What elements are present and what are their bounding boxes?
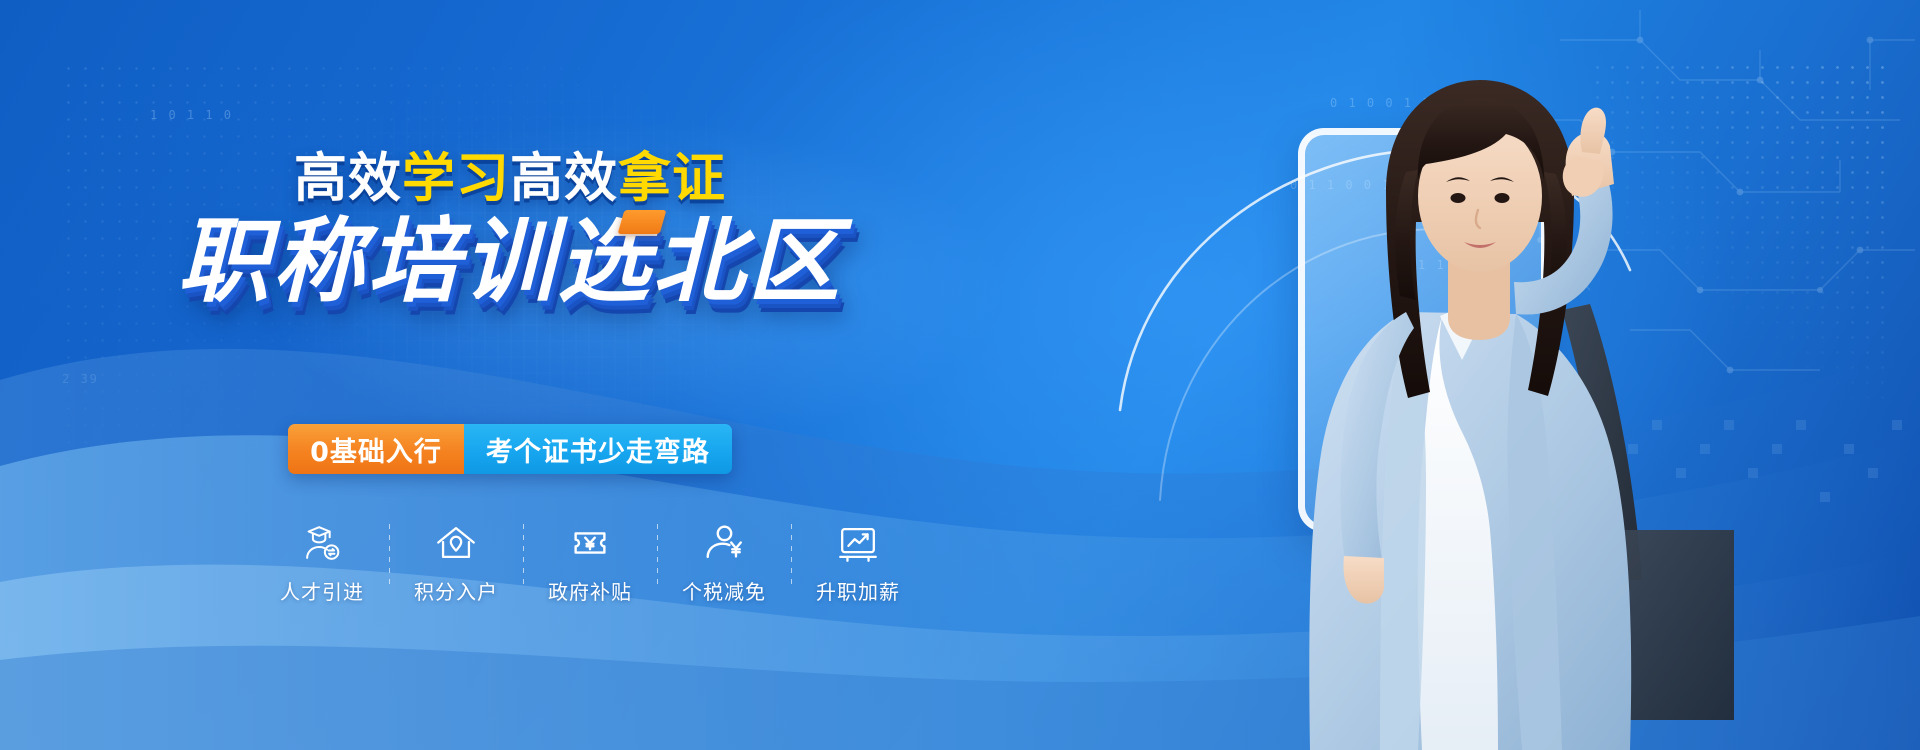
model-photo [1210, 60, 1770, 750]
feature-label: 政府补贴 [548, 576, 632, 605]
promo-banner: 2 39 1 0 1 1 0 0 1 0 0 1 1 1 1 0 1 0 0 1… [0, 0, 1920, 750]
badge-primary: 0基础入行 [288, 424, 464, 474]
feature-item-talent[interactable]: 人才引进 [256, 520, 389, 605]
home-pin-icon [433, 520, 479, 566]
kicker-highlight2: 拿证 [618, 148, 726, 209]
badge-bar-wrap: 0基础入行 考个证书少走弯路 [0, 424, 1020, 474]
growth-chart-icon [835, 520, 881, 566]
feature-list: 人才引进 积分入户 [0, 520, 1180, 605]
feature-item-tax[interactable]: 个税减免 [658, 520, 791, 605]
graduate-person-icon [299, 520, 345, 566]
kicker-highlight1: 学习 [402, 148, 510, 209]
model-composition [1060, 0, 1920, 750]
kicker-part1: 高效 [294, 148, 402, 209]
main-title-wrap: 职称培训选北区 [0, 214, 1020, 311]
orange-accent-mark-icon [618, 210, 667, 234]
badge-secondary: 考个证书少走弯路 [464, 424, 732, 474]
feature-item-subsidy[interactable]: 政府补贴 [524, 520, 657, 605]
person-yuan-icon [701, 520, 747, 566]
yuan-ticket-icon [567, 520, 613, 566]
feature-label: 积分入户 [414, 576, 498, 605]
kicker-headline: 高效学习高效拿证 [0, 152, 1020, 205]
badge-bar: 0基础入行 考个证书少走弯路 [288, 424, 732, 474]
feature-label: 个税减免 [682, 576, 766, 605]
main-title: 职称培训选北区 [177, 214, 842, 311]
kicker-part2: 高效 [510, 148, 618, 209]
copy-block: 高效学习高效拿证 职称培训选北区 0基础入行 考个证书少走弯路 [0, 0, 1020, 750]
feature-item-residency[interactable]: 积分入户 [390, 520, 523, 605]
feature-item-promotion[interactable]: 升职加薪 [792, 520, 925, 605]
feature-label: 人才引进 [280, 576, 364, 605]
feature-label: 升职加薪 [816, 576, 900, 605]
